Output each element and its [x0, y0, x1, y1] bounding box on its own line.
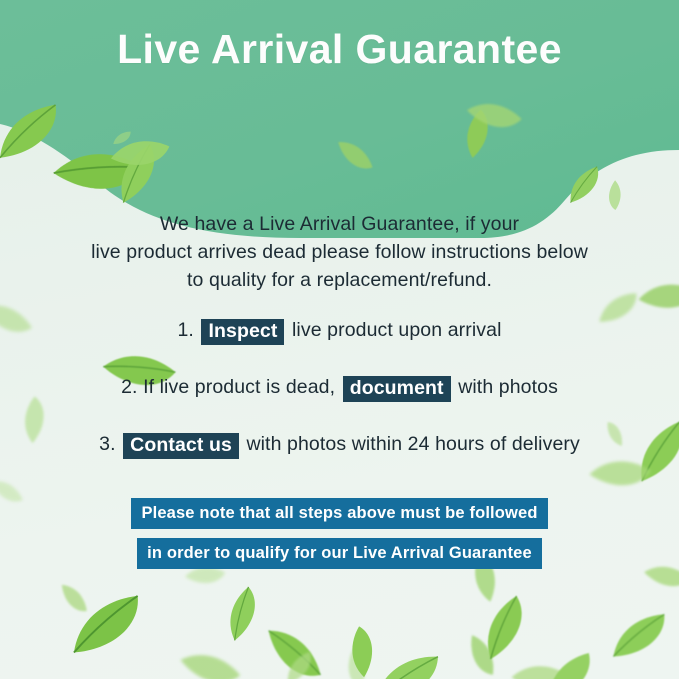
- step-text-pre: If live product is dead,: [143, 376, 335, 398]
- note-block: Please note that all steps above must be…: [0, 498, 679, 578]
- note-line-2: in order to qualify for our Live Arrival…: [137, 538, 542, 569]
- step-item-2: 2. If live product is dead, document wit…: [30, 375, 649, 401]
- note-line-1: Please note that all steps above must be…: [131, 498, 547, 529]
- intro-paragraph: We have a Live Arrival Guarantee, if you…: [45, 210, 634, 294]
- step-text-post: live product upon arrival: [292, 319, 502, 341]
- step-number: 3.: [99, 433, 115, 455]
- step-highlight-contact-us: Contact us: [123, 433, 239, 459]
- step-highlight-document: document: [343, 376, 451, 402]
- step-text-post: with photos within 24 hours of delivery: [246, 433, 579, 455]
- content-area: We have a Live Arrival Guarantee, if you…: [0, 0, 679, 679]
- intro-line-2: live product arrives dead please follow …: [45, 238, 634, 266]
- step-number: 2.: [121, 376, 137, 398]
- step-number: 1.: [177, 319, 193, 341]
- intro-line-3: to quality for a replacement/refund.: [45, 266, 634, 294]
- step-text-post: with photos: [458, 376, 558, 398]
- step-item-3: 3. Contact us with photos within 24 hour…: [30, 432, 649, 458]
- step-highlight-inspect: Inspect: [201, 319, 284, 345]
- steps-list: 1. Inspect live product upon arrival 2. …: [30, 318, 649, 489]
- step-item-1: 1. Inspect live product upon arrival: [30, 318, 649, 344]
- live-arrival-guarantee-graphic: Live Arrival Guarantee: [0, 0, 679, 679]
- intro-line-1: We have a Live Arrival Guarantee, if you…: [45, 210, 634, 238]
